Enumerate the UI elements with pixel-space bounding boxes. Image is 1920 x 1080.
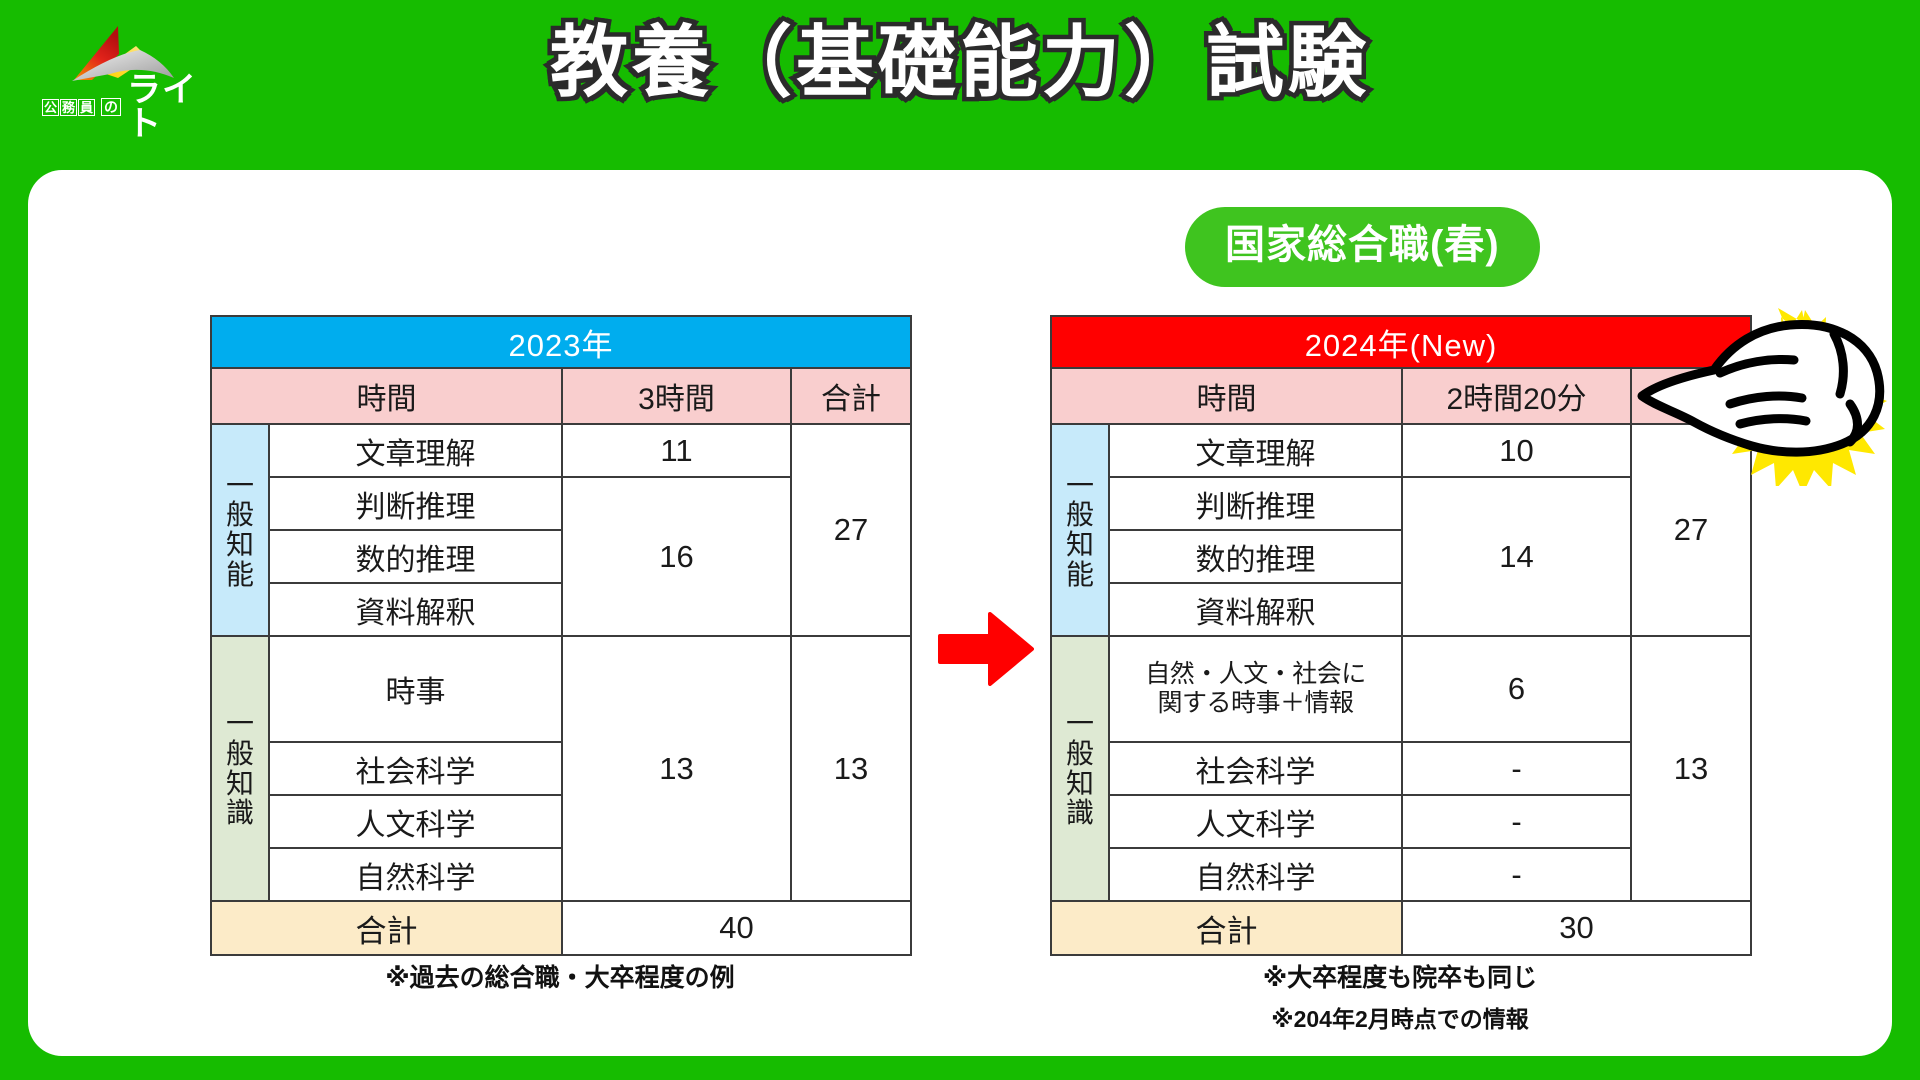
exam-table-2023: 2023年 時間 3時間 合計 一般知能 文章理解 11 27 判断推理 16 … [210,315,912,956]
subject-cell: 資料解釈 [269,583,562,636]
count-cell: - [1402,848,1631,901]
time-label: 時間 [211,368,562,424]
sum-value: 30 [1402,901,1751,955]
group-label-chishiki: 一般知識 [1051,636,1109,901]
total-header: 合計 [791,368,911,424]
subject-cell: 文章理解 [1109,424,1402,477]
status-badge: 国家総合職(春) [1185,207,1540,287]
table-row: 一般知能 文章理解 11 27 [211,424,911,477]
page-title: 教養（基礎能力）試験 [0,16,1920,110]
subject-cell: 資料解釈 [1109,583,1402,636]
time-value: 3時間 [562,368,791,424]
subject-cell: 人文科学 [1109,795,1402,848]
subject-line-1: 自然・人文・社会に [1110,660,1401,690]
count-cell: 16 [562,477,791,636]
caption-left-1: ※過去の総合職・大卒程度の例 [210,958,910,994]
caption-right-1: ※大卒程度も院卒も同じ [1050,958,1750,994]
sum-label: 合計 [1051,901,1402,955]
subject-cell: 文章理解 [269,424,562,477]
count-cell: - [1402,742,1631,795]
caption-right-2: ※204年2月時点での情報 [1050,1000,1750,1034]
count-cell: 10 [1402,424,1631,477]
right-arrow-icon [938,612,1034,686]
group-total: 13 [791,636,911,901]
sum-label: 合計 [211,901,562,955]
time-label: 時間 [1051,368,1402,424]
subject-cell: 判断推理 [1109,477,1402,530]
count-cell: 13 [562,636,791,901]
subject-cell: 社会科学 [269,742,562,795]
slide-canvas: 公 務 員 の ライト 教養（基礎能力）試験 国家総合職(春) 2023年 時間… [0,0,1920,1080]
subject-cell: 人文科学 [269,795,562,848]
table-sum-row: 合計 30 [1051,901,1751,955]
table-sum-row: 合計 40 [211,901,911,955]
subject-cell: 社会科学 [1109,742,1402,795]
count-cell: 14 [1402,477,1631,636]
table-header-year: 2023年 [211,316,911,368]
table-row: 一般知識 自然・人文・社会に 関する時事＋情報 6 13 [1051,636,1751,742]
sum-value: 40 [562,901,911,955]
table-row: 一般知識 時事 13 13 [211,636,911,742]
group-total: 27 [791,424,911,636]
subject-cell: 自然科学 [269,848,562,901]
subject-line-2: 関する時事＋情報 [1110,689,1401,719]
subject-cell-jiji: 自然・人文・社会に 関する時事＋情報 [1109,636,1402,742]
count-cell: - [1402,795,1631,848]
subject-cell: 数的推理 [1109,530,1402,583]
group-total: 13 [1631,636,1751,901]
subject-cell: 自然科学 [1109,848,1402,901]
subject-cell: 判断推理 [269,477,562,530]
pointing-hand-icon [1628,300,1920,486]
subject-cell: 時事 [269,636,562,742]
subject-cell: 数的推理 [269,530,562,583]
group-label-chinou: 一般知能 [211,424,269,636]
count-cell: 11 [562,424,791,477]
time-value: 2時間20分 [1402,368,1631,424]
group-label-chinou: 一般知能 [1051,424,1109,636]
count-cell: 6 [1402,636,1631,742]
group-label-chishiki: 一般知識 [211,636,269,901]
